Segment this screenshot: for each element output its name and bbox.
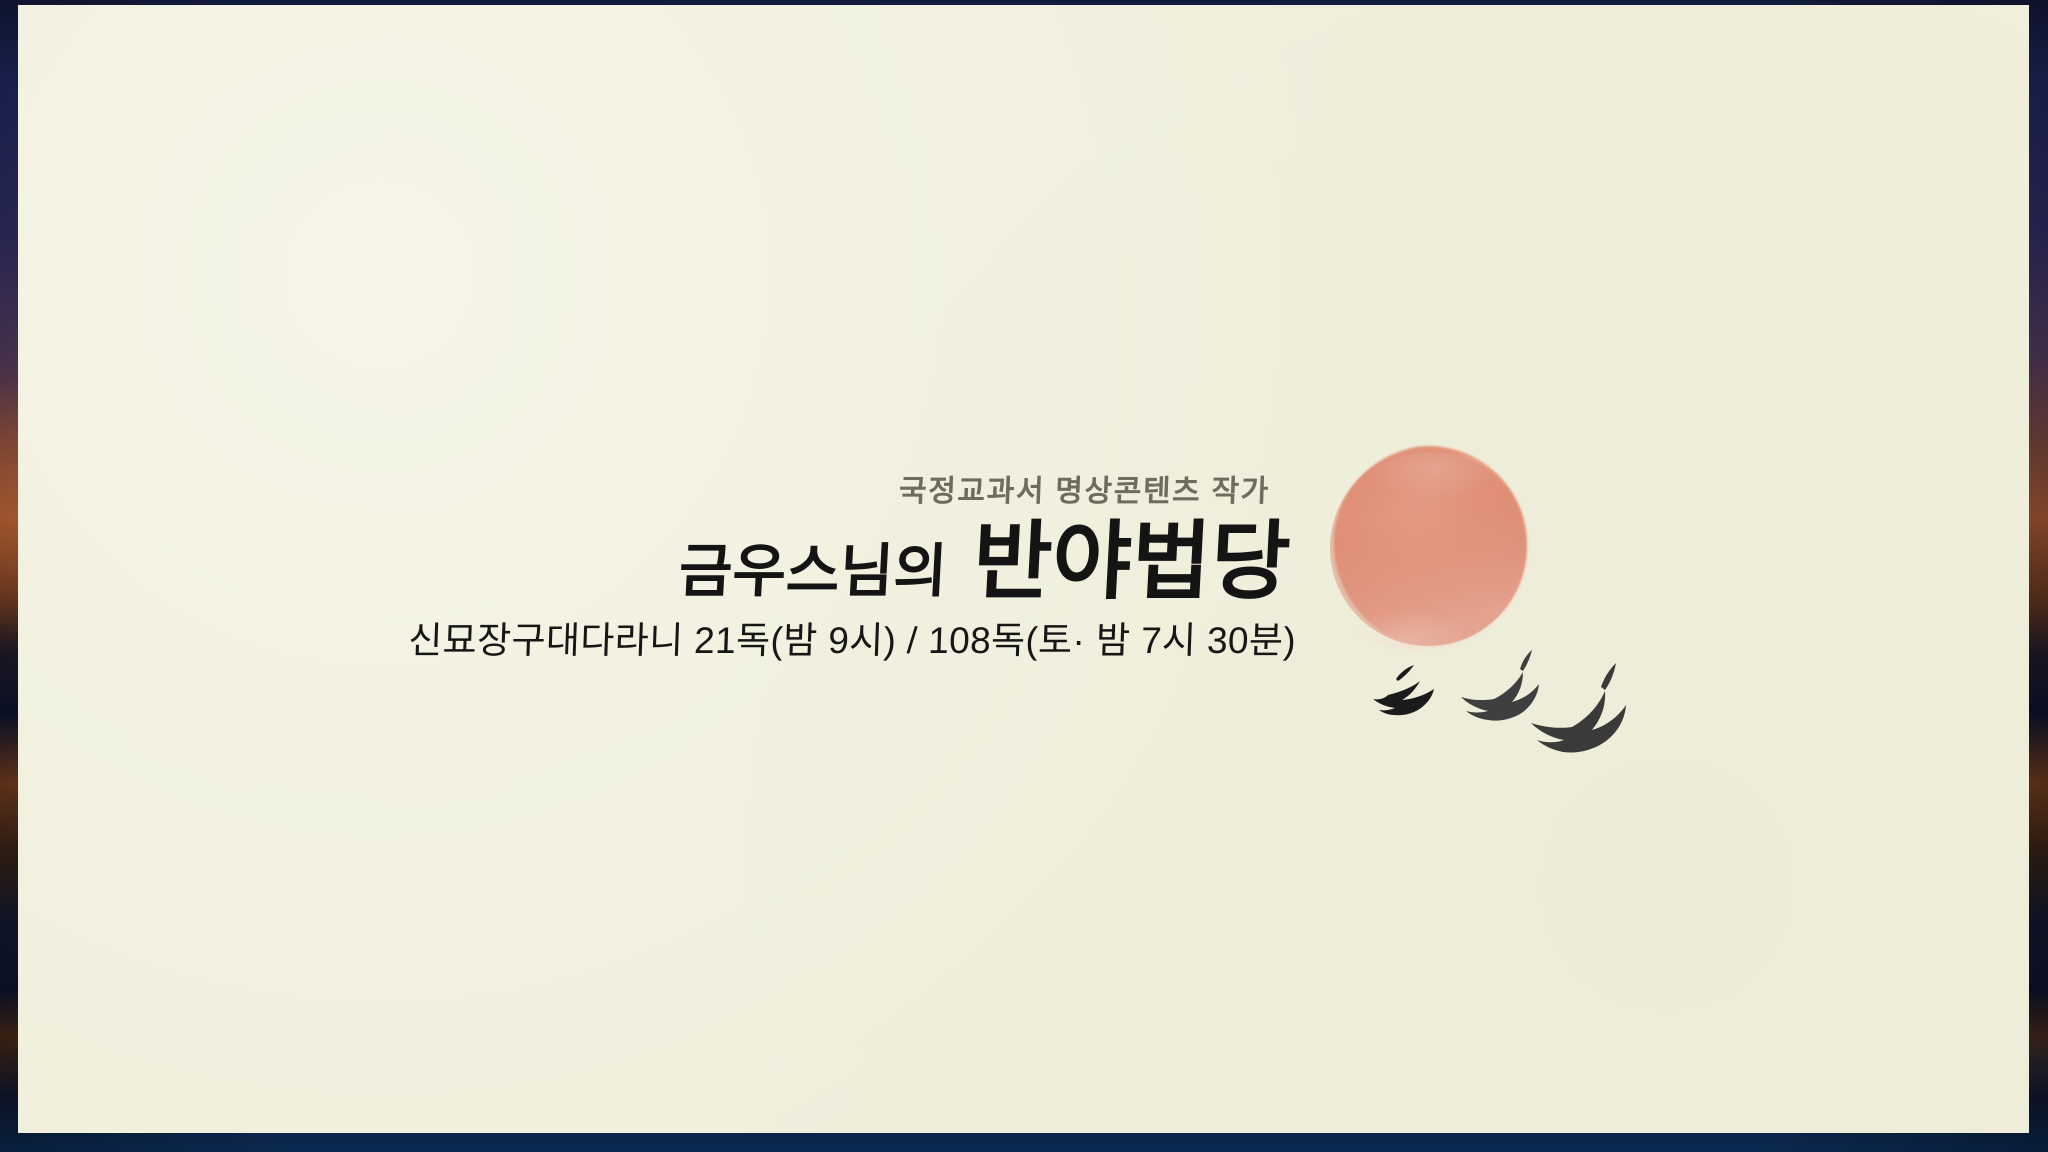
title-prefix: 금우스님의	[677, 541, 948, 602]
watercolor-sun-graphic	[1312, 430, 1544, 662]
eyebrow-text: 국정교과서 명상콘텐츠 작가	[18, 475, 1309, 508]
page-title: 금우스님의반야법당	[18, 517, 1308, 608]
title-main: 반야법당	[970, 517, 1292, 608]
flying-cranes-graphic	[1370, 645, 1650, 775]
slide-stage: 국정교과서 명상콘텐츠 작가 금우스님의반야법당 신묘장구대다라니 21독(밤 …	[0, 0, 2048, 1152]
crane-2	[1461, 650, 1539, 721]
crane-3	[1531, 663, 1626, 753]
headline-block: 국정교과서 명상콘텐츠 작가 금우스님의반야법당 신묘장구대다라니 21독(밤 …	[18, 475, 1308, 663]
schedule-text: 신묘장구대다라니 21독(밤 9시) / 108독(토· 밤 7시 30분)	[18, 620, 1309, 663]
presentation-slide: 국정교과서 명상콘텐츠 작가 금우스님의반야법당 신묘장구대다라니 21독(밤 …	[18, 5, 2029, 1133]
crane-1	[1373, 665, 1434, 715]
